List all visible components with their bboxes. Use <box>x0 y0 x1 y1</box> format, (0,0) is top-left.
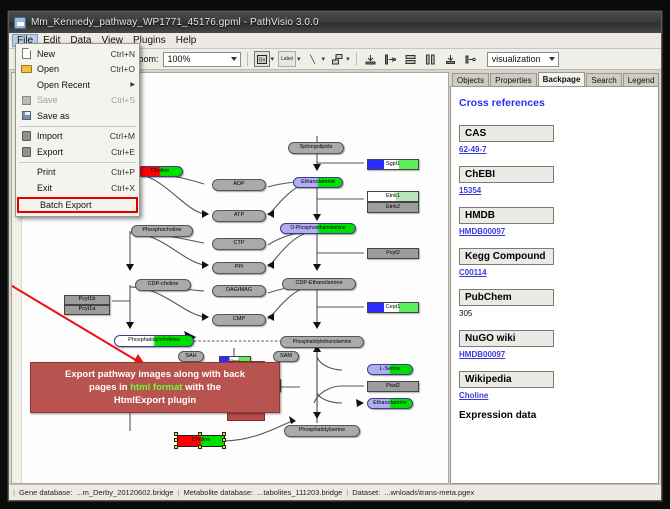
node-gene-pisd2[interactable]: Pisd2 <box>367 381 419 392</box>
open-folder-icon <box>20 64 33 75</box>
status-sep-2: | <box>346 488 348 497</box>
xref-link-wikipedia[interactable]: Choline <box>459 391 650 400</box>
file-menu-item-new[interactable]: New Ctrl+N <box>16 46 139 62</box>
file-menu-item-import[interactable]: Import Ctrl+M <box>16 129 139 145</box>
file-menu-item-batch-export[interactable]: Batch Export <box>17 197 138 213</box>
submenu-arrow-icon: ▶ <box>130 81 135 88</box>
file-menu-item-exit[interactable]: Exit Ctrl+X <box>16 180 139 196</box>
align-cols-icon[interactable] <box>423 51 439 67</box>
file-menu-item-save-as[interactable]: Save as <box>16 108 139 124</box>
xref-value-pubchem: 305 <box>459 309 650 318</box>
file-menu-label-import: Import <box>37 131 110 141</box>
xref-head-cas: CAS <box>459 125 554 142</box>
chevron-down-icon <box>231 57 237 61</box>
xref-link-kegg[interactable]: C00114 <box>459 268 650 277</box>
xref-link-nugo[interactable]: HMDB00097 <box>459 350 650 359</box>
selection-handle-nw[interactable] <box>174 432 178 436</box>
backpage-title: Cross references <box>459 97 650 109</box>
arrowhead-down-8 <box>313 412 321 419</box>
visualization-combobox[interactable]: visualization <box>487 52 559 67</box>
arrowhead-right-2 <box>202 261 209 269</box>
pathvisio-icon <box>14 17 26 29</box>
node-gene-pcyt1b[interactable]: Pcyt1b <box>64 295 110 305</box>
node-adp[interactable]: ADP <box>212 179 266 191</box>
file-menu-item-print[interactable]: Print Ctrl+P <box>16 165 139 181</box>
node-choline-top[interactable]: Choline <box>137 166 183 177</box>
node-cdp-choline[interactable]: CDP-choline <box>135 279 191 291</box>
stack-bottom-icon[interactable] <box>443 51 459 67</box>
xref-head-pubchem: PubChem <box>459 289 554 306</box>
status-sep-0: | <box>13 488 15 497</box>
file-menu-label-save-as: Save as <box>37 111 135 121</box>
window-titlebar: Mm_Kennedy_pathway_WP1771_45176.gpml - P… <box>9 12 661 33</box>
selection-handle-s[interactable] <box>198 445 202 449</box>
backpage-content[interactable]: Cross references CAS 62-49-7 ChEBI 15354… <box>450 86 659 484</box>
xref-section-hmdb: HMDB HMDB00097 <box>459 205 650 236</box>
file-menu-label-export: Export <box>37 147 111 157</box>
export-icon <box>20 146 33 157</box>
arrowhead-left-3 <box>267 313 274 321</box>
shape-glyph <box>332 54 343 65</box>
selection-handle-w[interactable] <box>174 438 178 442</box>
file-menu-label-batch-export: Batch Export <box>40 200 132 210</box>
annotation-callout: Export pathway images along with back pa… <box>30 362 280 413</box>
status-metabolite-database-value: ...tabolites_111203.bridge <box>257 488 342 497</box>
shape-dropdown-arrow[interactable]: ▾ <box>346 55 350 63</box>
blank-icon-2 <box>20 167 33 178</box>
file-menu-accel-open: Ctrl+O <box>110 64 135 74</box>
node-dag-mag[interactable]: DAG/MAG <box>212 285 266 297</box>
node-o-phosphoethanolamine[interactable]: O-Phosphoethanolamine <box>280 223 356 234</box>
callout-line-1: Export pathway images along with back <box>37 368 273 381</box>
node-phosphatidylserine[interactable]: Phosphatidylserine <box>284 425 360 437</box>
node-gene-cept1[interactable]: Cept1 <box>367 302 419 313</box>
arrowhead-down-6 <box>313 264 321 271</box>
xref-section-nugo: NuGO wiki HMDB00097 <box>459 328 650 359</box>
file-menu-label-open-recent: Open Recent <box>37 80 130 90</box>
file-menu-divider-2 <box>19 162 136 163</box>
arrowhead-left-2 <box>267 261 274 269</box>
align-top-glyph <box>365 54 376 65</box>
xref-section-chebi: ChEBI 15354 <box>459 164 650 195</box>
node-l-serine[interactable]: L-Serine <box>367 364 413 375</box>
align-rows-glyph <box>405 54 416 65</box>
align-left-glyph <box>385 54 396 65</box>
file-menu-accel-exit: Ctrl+X <box>111 183 135 193</box>
xref-head-hmdb: HMDB <box>459 207 554 224</box>
blank-icon-4 <box>23 199 36 210</box>
node-gene-sgpl1[interactable]: Sgpl1 <box>367 159 419 170</box>
node-sam[interactable]: SAM <box>273 351 299 362</box>
node-sah[interactable]: SAH <box>178 351 204 362</box>
node-phosphocholine[interactable]: Phosphocholine <box>131 225 193 237</box>
arrowhead-right-3 <box>202 313 209 321</box>
align-rows-icon[interactable] <box>403 51 419 67</box>
file-menu-label-open: Open <box>37 64 110 74</box>
desktop-background: Mm_Kennedy_pathway_WP1771_45176.gpml - P… <box>0 0 670 509</box>
status-dataset-value: ...wnloads\trans-meta.pgex <box>384 488 474 497</box>
xref-head-wikipedia: Wikipedia <box>459 371 554 388</box>
file-menu-dropdown[interactable]: New Ctrl+N Open Ctrl+O Open Recent ▶ Sav… <box>15 43 140 217</box>
xref-link-chebi[interactable]: 15354 <box>459 186 650 195</box>
align-cols-glyph <box>425 54 436 65</box>
file-menu-label-exit: Exit <box>37 183 111 193</box>
node-gene-etnk2[interactable]: Etnk2 <box>367 202 419 213</box>
selection-handle-e[interactable] <box>222 438 226 442</box>
status-metabolite-database-label: Metabolite database: <box>183 488 253 497</box>
node-sphingolipids[interactable]: Sphingolipids <box>288 142 344 154</box>
node-gene-pcyt1a[interactable]: Pcyt1a <box>64 305 110 315</box>
xref-link-cas[interactable]: 62-49-7 <box>459 145 650 154</box>
status-dataset-label: Dataset: <box>352 488 380 497</box>
xref-head-kegg: Kegg Compound <box>459 248 554 265</box>
datanode-dropdown-arrow[interactable]: ▾ <box>271 55 275 63</box>
stack-glyph <box>445 54 456 65</box>
arrowhead-right-4 <box>356 399 364 407</box>
node-cmp[interactable]: CMP <box>212 314 266 326</box>
xref-head-chebi: ChEBI <box>459 166 554 183</box>
align-top-icon[interactable] <box>363 51 379 67</box>
selection-handle-sw[interactable] <box>174 445 178 449</box>
expression-data-heading: Expression data <box>459 410 650 421</box>
arrowhead-down-7 <box>313 322 321 329</box>
node-gene-pcyt2[interactable]: Pcyt2 <box>367 248 419 259</box>
statusbar: | Gene database: ...m_Derby_20120602.bri… <box>9 484 661 500</box>
align-left-icon[interactable] <box>383 51 399 67</box>
datanode-glyph: Gn <box>257 55 267 64</box>
blank-icon-3 <box>20 182 33 193</box>
node-phosphatidylethanolamine[interactable]: Phosphatidylethanolamine <box>280 336 364 348</box>
tab-properties[interactable]: Properties <box>490 73 536 86</box>
window-title: Mm_Kennedy_pathway_WP1771_45176.gpml - P… <box>31 17 319 28</box>
common-width-icon[interactable] <box>463 51 479 67</box>
file-menu-label-new: New <box>37 49 111 59</box>
xref-link-hmdb[interactable]: HMDB00097 <box>459 227 650 236</box>
selection-handle-se[interactable] <box>222 445 226 449</box>
node-cdp-ethanolamine[interactable]: CDP-Ethanolamine <box>282 278 356 290</box>
zoom-combobox[interactable]: 100% <box>163 52 241 67</box>
toolbar-separator-2 <box>356 52 357 66</box>
chevron-down-icon-2 <box>549 57 555 61</box>
selection-handle-n[interactable] <box>198 432 202 436</box>
callout-line-2-pre: pages in <box>89 382 130 393</box>
datanode-tool-icon[interactable]: Gn <box>254 51 270 67</box>
callout-line-2-post: with the <box>182 382 221 393</box>
pathvisio-application-window: Mm_Kennedy_pathway_WP1771_45176.gpml - P… <box>8 11 662 501</box>
line-dropdown-arrow[interactable]: ▾ <box>322 55 326 63</box>
import-icon <box>20 131 33 142</box>
width-glyph <box>465 54 476 65</box>
arrowhead-down-4 <box>313 164 321 171</box>
node-ctp[interactable]: CTP <box>212 238 266 250</box>
file-menu-item-export[interactable]: Export Ctrl+E <box>16 144 139 160</box>
tab-objects[interactable]: Objects <box>452 73 489 86</box>
save-as-icon <box>20 110 33 121</box>
node-ethanolamine-bottom[interactable]: Ethanolamine <box>367 398 413 409</box>
line-tool-icon[interactable]: ╲ <box>305 51 321 67</box>
menu-help[interactable]: Help <box>171 34 202 47</box>
file-menu-label-print: Print <box>37 167 111 177</box>
tab-legend[interactable]: Legend <box>623 73 660 86</box>
file-menu-accel-export: Ctrl+E <box>111 147 135 157</box>
xref-head-nugo: NuGO wiki <box>459 330 554 347</box>
arrowhead-left-4 <box>289 416 296 424</box>
file-menu-item-open-recent[interactable]: Open Recent ▶ <box>16 77 139 93</box>
status-gene-database-label: Gene database: <box>19 488 72 497</box>
zoom-value: 100% <box>168 54 191 64</box>
node-gene-etnk1[interactable]: Etnk1 <box>367 191 419 202</box>
toolbar-separator <box>247 52 248 66</box>
label-dropdown-arrow[interactable]: ▾ <box>297 55 301 63</box>
xref-section-cas: CAS 62-49-7 <box>459 123 650 154</box>
file-menu-item-open[interactable]: Open Ctrl+O <box>16 62 139 78</box>
file-menu-label-save: Save <box>37 95 111 105</box>
arrowhead-right-1 <box>202 210 209 218</box>
xref-section-kegg: Kegg Compound C00114 <box>459 246 650 277</box>
tab-backpage[interactable]: Backpage <box>538 72 586 86</box>
callout-highlight: html format <box>130 382 182 393</box>
xref-section-pubchem: PubChem 305 <box>459 287 650 318</box>
callout-line-2: pages in html format with the <box>37 381 273 394</box>
side-panel-tabs: Objects Properties Backpage Search Legen… <box>450 72 659 86</box>
arrowhead-left-1 <box>267 210 274 218</box>
xref-section-wikipedia: Wikipedia Choline <box>459 369 650 400</box>
file-menu-accel-new: Ctrl+N <box>111 49 135 59</box>
new-document-icon <box>20 48 33 59</box>
file-menu-item-save[interactable]: Save Ctrl+S <box>16 93 139 109</box>
selection-handle-ne[interactable] <box>222 432 226 436</box>
label-tool-icon[interactable]: Label <box>278 51 296 67</box>
node-ethanolamine-top[interactable]: Ethanolamine <box>293 177 343 188</box>
node-ppi[interactable]: PPi <box>212 262 266 274</box>
callout-line-3: HtmlExport plugin <box>37 394 273 407</box>
node-choline-selected-wrapper[interactable]: Choline <box>177 435 225 447</box>
shape-tool-icon[interactable] <box>329 51 345 67</box>
svg-text:Gn: Gn <box>258 57 265 63</box>
blank-icon-1 <box>20 79 33 90</box>
file-menu-accel-save: Ctrl+S <box>111 95 135 105</box>
visualization-value: visualization <box>492 54 541 64</box>
file-menu-divider-1 <box>19 126 136 127</box>
tab-search[interactable]: Search <box>586 73 621 86</box>
node-atp[interactable]: ATP <box>212 210 266 222</box>
file-menu-accel-import: Ctrl+M <box>110 131 135 141</box>
save-icon <box>20 95 33 106</box>
arrowhead-down-5 <box>313 214 321 221</box>
arrowhead-down-2 <box>126 264 134 271</box>
file-menu-accel-print: Ctrl+P <box>111 167 135 177</box>
status-gene-database-value: ...m_Derby_20120602.bridge <box>76 488 173 497</box>
node-phosphatidylcholines[interactable]: Phosphatidylcholines <box>114 335 194 347</box>
arrowhead-down-3 <box>126 322 134 329</box>
side-panel: Objects Properties Backpage Search Legen… <box>449 70 661 484</box>
status-sep-1: | <box>178 488 180 497</box>
